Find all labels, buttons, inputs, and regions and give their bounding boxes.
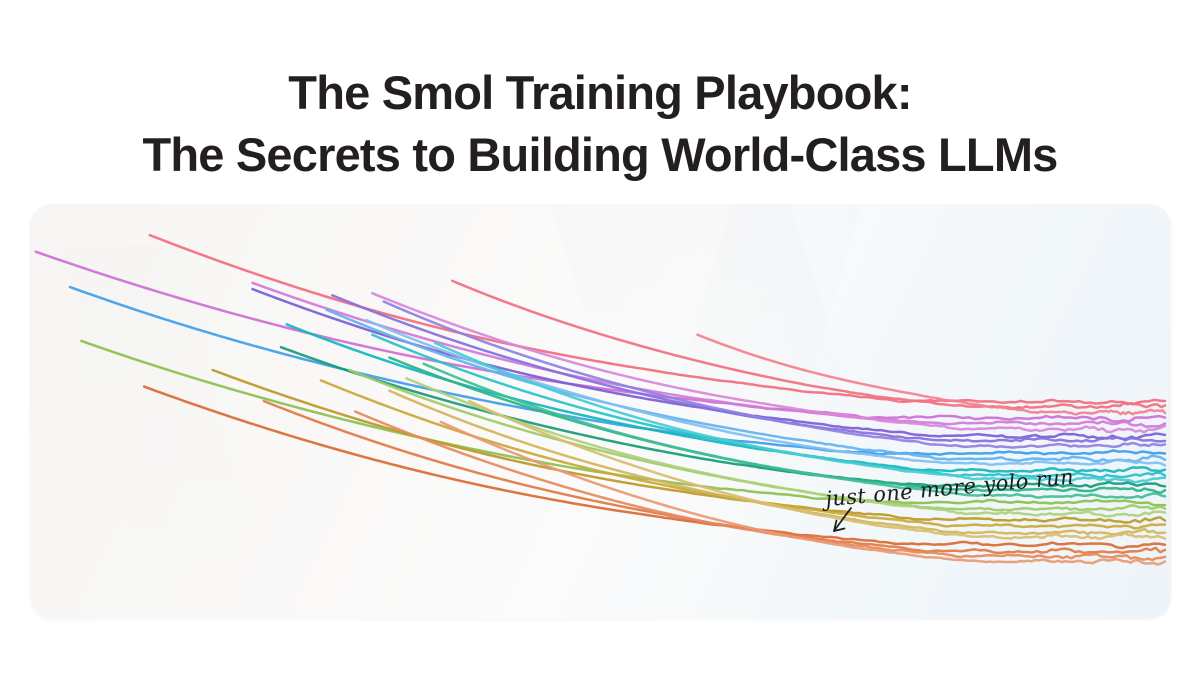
loss-curve-wsd [36, 252, 1165, 422]
loss-curves-panel: just one more yolo run RUN TYPES Attenti… [30, 204, 1171, 619]
loss-curves-plot [30, 204, 1171, 619]
loss-curve-nope [70, 287, 1165, 455]
loss-curve-attention [144, 387, 1165, 548]
title-line-2: The Secrets to Building World-Class LLMs [0, 124, 1200, 186]
infographic-root: The Smol Training Playbook: The Secrets … [0, 0, 1200, 675]
loss-curve-z-loss [150, 235, 1165, 404]
page-title: The Smol Training Playbook: The Secrets … [0, 62, 1200, 186]
title-line-1: The Smol Training Playbook: [0, 62, 1200, 124]
arrow-down-left-icon [825, 504, 859, 538]
